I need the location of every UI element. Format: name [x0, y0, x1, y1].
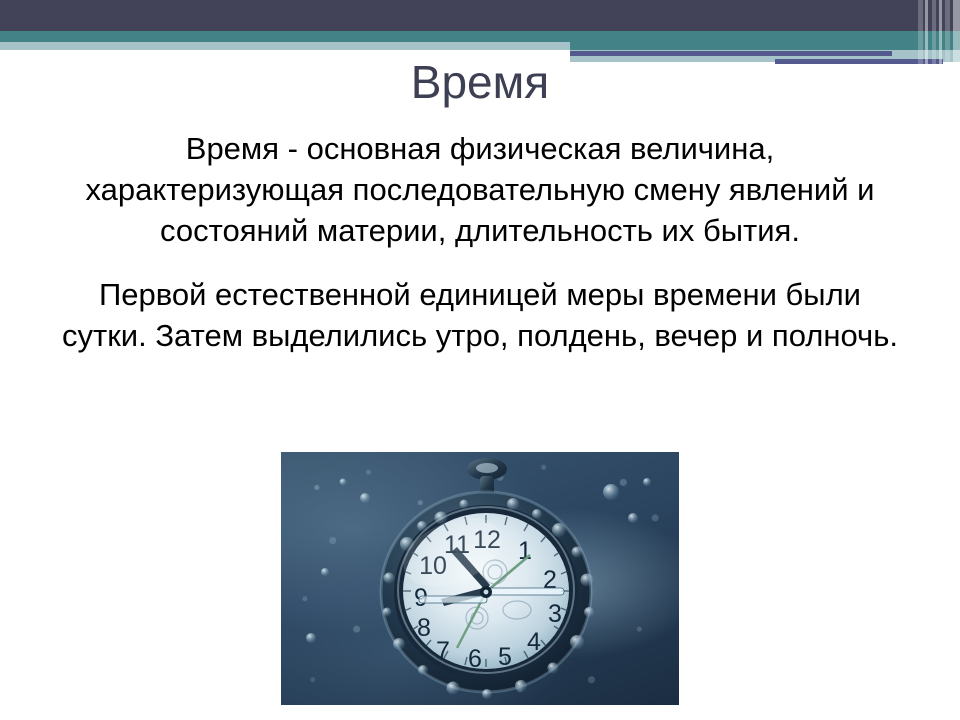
svg-text:8: 8	[417, 614, 431, 642]
svg-text:7: 7	[436, 637, 450, 665]
pocket-watch-illustration: 12 1 2 3 4 5 6 7 8 9 10 11	[281, 452, 679, 705]
body-paragraph-1: Время - основная физическая величина, ха…	[58, 128, 902, 252]
header-band-teal-left	[0, 31, 928, 42]
pocket-watch-photo: 12 1 2 3 4 5 6 7 8 9 10 11	[281, 452, 679, 705]
svg-text:6: 6	[468, 645, 482, 673]
header-rule-upper	[570, 51, 892, 56]
slide-body: Время - основная физическая величина, ха…	[58, 128, 902, 356]
slide-title: Время	[0, 58, 960, 106]
header-band-teal-right	[570, 42, 960, 50]
svg-text:5: 5	[498, 643, 512, 671]
svg-text:4: 4	[527, 628, 541, 656]
header-band-dark	[0, 0, 960, 31]
svg-text:3: 3	[548, 600, 562, 628]
body-paragraph-2: Первой естественной единицей меры времен…	[58, 274, 902, 356]
slide: Время Время - основная физическая величи…	[0, 0, 960, 720]
